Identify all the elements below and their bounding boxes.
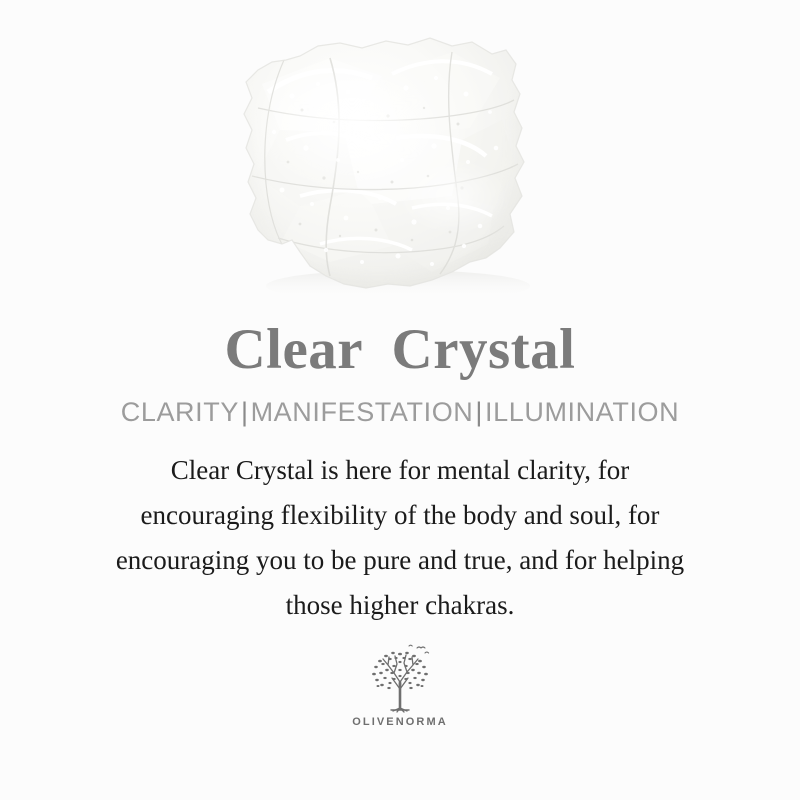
keyword-separator-1: | xyxy=(239,399,251,426)
tree-of-life-icon xyxy=(361,642,439,714)
description-line: those higher chakras. xyxy=(40,583,760,628)
description-text: Clear Crystal is here for mental clarity… xyxy=(40,448,760,628)
description-line: Clear Crystal is here for mental clarity… xyxy=(40,448,760,493)
clear-crystal-image xyxy=(0,0,800,318)
description-line: encouraging flexibility of the body and … xyxy=(40,493,760,538)
keyword-illumination: ILLUMINATION xyxy=(485,399,679,426)
crystal-image-area xyxy=(0,0,800,318)
product-info-card: Clear Crystal CLARITY | MANIFESTATION | … xyxy=(0,0,800,800)
brand-wordmark: OLIVENORMA xyxy=(352,716,448,728)
keyword-manifestation: MANIFESTATION xyxy=(251,399,474,426)
keyword-line: CLARITY | MANIFESTATION | ILLUMINATION xyxy=(121,399,680,426)
keyword-separator-2: | xyxy=(473,399,485,426)
description-line: encouraging you to be pure and true, and… xyxy=(40,538,760,583)
page-title: Clear Crystal xyxy=(224,318,575,380)
keyword-clarity: CLARITY xyxy=(121,399,239,426)
brand-logo: OLIVENORMA xyxy=(352,642,448,728)
